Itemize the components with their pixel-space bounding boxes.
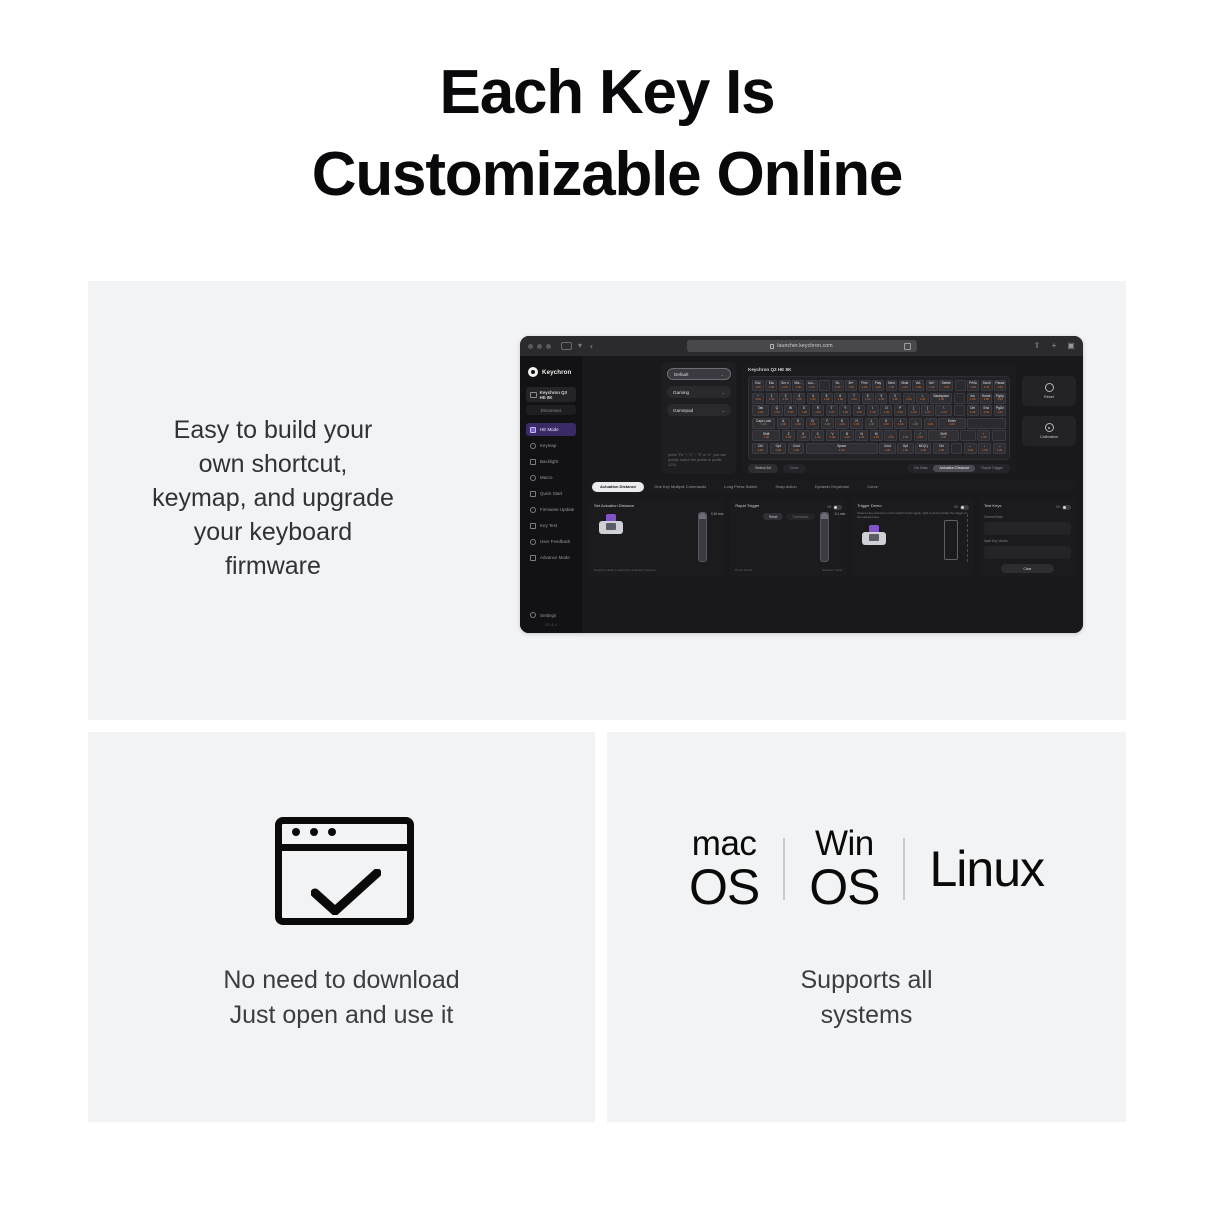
panel-title: Trigger Demo — [857, 503, 881, 508]
key-←[interactable]: ←1.00 — [964, 443, 977, 454]
address-bar[interactable]: launcher.keychron.com — [687, 340, 917, 352]
key-\[interactable]: \1.00 — [935, 405, 952, 416]
tab-long-press-switch[interactable]: Long Press Switch — [716, 482, 765, 492]
key-actuation-value: 1.00 — [782, 386, 787, 389]
sidebar-footer: Settings V1.4.4 — [520, 612, 582, 627]
os-logo-name: Linux — [929, 844, 1044, 894]
switch-slot-shape — [606, 523, 616, 530]
key-Prev[interactable]: Prev1.00 — [859, 380, 871, 391]
app-main: Default⌄Gaming⌄Gamepad⌄ press "Fn" + "1"… — [582, 356, 1083, 633]
tabs-overview-icon[interactable]: ▣ — [1067, 342, 1075, 350]
key-Mic...[interactable]: Mic...1.00 — [792, 380, 804, 391]
caption-line-2: systems — [607, 998, 1126, 1033]
sidebar-item-label: Macro — [540, 475, 552, 480]
key-Caps Lock[interactable]: Caps Lock1.00 — [752, 418, 775, 429]
settings-panels: Set Actuation Distance 0.10 mm Drag the … — [589, 498, 1076, 576]
key-Opt[interactable]: Opt1.00 — [770, 443, 786, 454]
key-Esc[interactable]: Esc1.00 — [765, 380, 777, 391]
select-all-button[interactable]: Select All — [748, 464, 778, 473]
panel-header: Trigger Demo Off — [857, 503, 969, 511]
key-actuation-value: 1.00 — [970, 386, 975, 389]
tab-curve[interactable]: Curve — [859, 482, 886, 492]
key-Enter[interactable]: Enter1.00 — [938, 418, 966, 429]
keyboard-spacer — [955, 380, 966, 391]
rapid-pill-reset[interactable]: Reset — [763, 513, 783, 520]
clear-button[interactable]: Clear — [783, 464, 806, 473]
sidebar-nav: HE ModeKeymapBacklightMacroQuick StartFi… — [520, 423, 582, 564]
key-N[interactable]: N1.00 — [855, 430, 868, 441]
gear-icon — [530, 612, 536, 618]
supported-os-logos: macOSWinOSLinux — [607, 826, 1126, 912]
caption-line-1: No need to download — [88, 963, 595, 998]
seg-no-data[interactable]: No Data — [908, 465, 933, 472]
key-actuation-value: 1.00 — [898, 423, 903, 426]
profile-gamepad[interactable]: Gamepad⌄ — [667, 404, 731, 416]
os-logo-name: OS — [809, 862, 879, 912]
key-actuation-value: 1.00 — [997, 398, 1002, 401]
key-~[interactable]: ~1.00 — [752, 393, 764, 404]
key-↑[interactable]: ↑1.00 — [977, 430, 990, 441]
key-B[interactable]: B1.00 — [840, 430, 853, 441]
actuation-value: 0.10 mm — [711, 512, 723, 516]
key-actuation-value: 1.00 — [810, 423, 815, 426]
profile-default[interactable]: Default⌄ — [667, 368, 731, 380]
macro-icon — [530, 475, 536, 481]
copy-line-4: your keyboard — [108, 515, 438, 549]
key-actuation-value: 1.00 — [927, 423, 932, 426]
keyboard-row: Tab1.00Q1.00W1.00E1.00R1.00T1.00Y1.00U1.… — [752, 405, 1006, 416]
keyboard-view-toggle[interactable]: No DataActuation DistanceRapid Trigger — [907, 464, 1010, 473]
profile-label: Gaming — [673, 390, 689, 395]
sidebar-item-label: Firmware Update — [540, 507, 574, 512]
key-PgUp[interactable]: PgUp1.00 — [994, 393, 1006, 404]
key-Loc...[interactable]: Loc...1.00 — [806, 380, 818, 391]
os-logo-winos: WinOS — [809, 826, 879, 912]
chevron-down-icon[interactable]: ⌄ — [721, 372, 724, 377]
key-Scr n[interactable]: Scr n1.00 — [779, 380, 791, 391]
profile-label: Default — [674, 372, 689, 377]
lock-icon — [770, 344, 774, 349]
key-F[interactable]: F1.00 — [821, 418, 834, 429]
key-actuation-value: 1.00 — [769, 386, 774, 389]
panel-set-actuation-distance: Set Actuation Distance 0.10 mm Drag the … — [589, 498, 725, 576]
key-Space[interactable]: Space1.00 — [806, 443, 878, 454]
input-key-values-field[interactable] — [984, 546, 1071, 559]
panel-header: Rapid Trigger Off — [735, 503, 842, 511]
key-I[interactable]: I1.00 — [867, 405, 879, 416]
key-Vol+[interactable]: Vol+1.00 — [926, 380, 938, 391]
upper-row: Default⌄Gaming⌄Gamepad⌄ press "Fn" + "1"… — [589, 362, 1076, 474]
key-0[interactable]: 01.00 — [889, 393, 901, 404]
chevron-down-icon[interactable]: ▾ — [578, 342, 582, 350]
key-actuation-value: 1.00 — [815, 411, 820, 414]
toggle-label: Off — [1056, 505, 1060, 509]
keychron-launcher-app: Keychron Keychron Q3 HE 8K Disconnect HE… — [520, 356, 1083, 633]
keyboard-icon — [530, 392, 537, 398]
key-Pause[interactable]: Pause1.00 — [994, 380, 1006, 391]
copy-line-3: keymap, and upgrade — [108, 481, 438, 515]
key-T[interactable]: T1.00 — [826, 405, 838, 416]
sidebar-item-backlight[interactable]: Backlight — [526, 455, 576, 468]
chevron-down-icon[interactable]: ⌄ — [722, 390, 725, 395]
key-1[interactable]: 11.00 — [766, 393, 778, 404]
key-Vol-[interactable]: Vol-1.00 — [912, 380, 924, 391]
key-[[interactable]: [1.00 — [908, 405, 920, 416]
key-U[interactable]: U1.00 — [853, 405, 865, 416]
sidebar-item-quick-start[interactable]: Quick Start — [526, 487, 576, 500]
profile-gaming[interactable]: Gaming⌄ — [667, 386, 731, 398]
reset-icon — [1045, 383, 1054, 392]
toggle-label: Off — [827, 505, 831, 509]
tab-dynamic-keystroke[interactable]: Dynamic Keystroke — [807, 482, 857, 492]
keyboard-spacer — [960, 430, 975, 441]
user-feedback-icon — [530, 539, 536, 545]
key-actuation-value: 1.00 — [775, 449, 780, 452]
panel-footer: Drag the slider to adjust the actuation … — [594, 568, 720, 572]
chevron-down-icon[interactable]: ⌄ — [722, 408, 725, 413]
key-actuation-value: 1.00 — [970, 411, 975, 414]
key-Scroll[interactable]: Scroll1.00 — [981, 380, 993, 391]
key-O[interactable]: O1.00 — [880, 405, 892, 416]
key-Br+[interactable]: Br+1.00 — [845, 380, 857, 391]
reset-button[interactable]: Reset — [1022, 376, 1076, 406]
toggle-switch-icon[interactable] — [960, 505, 969, 510]
key-actuation-value: 1.00 — [755, 398, 760, 401]
sidebar-item-firmware-update[interactable]: Firmware Update — [526, 503, 576, 516]
key-End[interactable]: End1.00 — [980, 405, 992, 416]
key-Esc[interactable]: Esc1.00 — [752, 380, 764, 391]
key-actuation-value: 1.00 — [892, 398, 897, 401]
profile-hint: press "Fn" + "1" ~ "3" or "4", you can q… — [668, 453, 730, 468]
key-actuation-value: 1.00 — [875, 386, 880, 389]
rapid-pill-continuous[interactable]: Continuous — [786, 513, 814, 520]
calibration-button[interactable]: Calibration — [1022, 416, 1076, 446]
key-,[interactable]: ,1.00 — [884, 430, 897, 441]
key-actuation-value: 1.00 — [997, 411, 1002, 414]
copy-line-2: own shortcut, — [108, 447, 438, 481]
key-actuation-value: 1.00 — [848, 386, 853, 389]
current-keys-field[interactable] — [984, 522, 1071, 535]
tab-snap-action[interactable]: Snap Action — [767, 482, 804, 492]
key-R[interactable]: R1.00 — [812, 405, 824, 416]
key-V[interactable]: V1.00 — [826, 430, 839, 441]
key-S[interactable]: S1.00 — [791, 418, 804, 429]
key-actuation-value: 1.00 — [800, 436, 805, 439]
tab-actuation-distance[interactable]: Actuation Distance — [592, 482, 644, 492]
button-label: Calibration — [1040, 435, 1058, 439]
key-actuation-value: 1.00 — [809, 386, 814, 389]
key-D[interactable]: D1.00 — [806, 418, 819, 429]
settings-label: Settings — [540, 613, 556, 618]
divider — [903, 838, 905, 900]
actuation-hint: Drag the slider to adjust the actuation … — [594, 568, 656, 572]
minimize-icon[interactable] — [537, 344, 542, 349]
key-actuation-value: 1.00 — [870, 411, 875, 414]
keyboard-layout[interactable]: Esc1.00Esc1.00Scr n1.00Mic...1.00Loc...1… — [748, 376, 1010, 460]
key-Home[interactable]: Home1.00 — [980, 393, 992, 404]
key-4[interactable]: 41.00 — [807, 393, 819, 404]
key-actuation-value: 1.00 — [793, 449, 798, 452]
os-logo-name: OS — [689, 862, 759, 912]
copy-line-5: firmware — [108, 549, 438, 583]
toggle-switch-icon[interactable] — [1062, 505, 1071, 510]
key-Shift[interactable]: Shift1.00 — [928, 430, 959, 441]
sidebar-item-keymap[interactable]: Keymap — [526, 439, 576, 452]
sidebar-item-key-test[interactable]: Key Test — [526, 519, 576, 532]
keyboard-spacer — [954, 393, 965, 404]
key-2[interactable]: 21.00 — [779, 393, 791, 404]
sidebar-item-label: HE Mode — [540, 427, 559, 432]
key-K[interactable]: K1.00 — [879, 418, 892, 429]
key-Shift[interactable]: Shift1.00 — [752, 430, 780, 441]
app-version: V1.4.4 — [520, 622, 582, 627]
key-Del[interactable]: Del1.00 — [967, 405, 979, 416]
key-Cmd[interactable]: Cmd1.00 — [788, 443, 804, 454]
trigger-gauge — [944, 520, 958, 560]
maximize-icon[interactable] — [546, 344, 551, 349]
key-6[interactable]: 61.00 — [834, 393, 846, 404]
gauge-dashed-line — [967, 514, 968, 562]
key-actuation-value: 1.00 — [829, 411, 834, 414]
release-travel-label: Release Travel — [822, 568, 842, 572]
browser-actions: ⇪ + ▣ — [1033, 342, 1075, 350]
sidebar-toggle-icon[interactable] — [561, 342, 572, 350]
key-actuation-value: 1.00 — [755, 386, 760, 389]
key-actuation-value: 1.00 — [830, 436, 835, 439]
device-selector[interactable]: Keychron Q3 HE 8K — [526, 387, 576, 402]
key-X[interactable]: X1.00 — [797, 430, 810, 441]
key-actuation-value: 1.00 — [939, 398, 944, 401]
panel-test-keys: Test Keys Off Current Keys Input Key Val… — [979, 498, 1076, 576]
key-.[interactable]: .1.00 — [899, 430, 912, 441]
key-Next[interactable]: Next1.00 — [886, 380, 898, 391]
key-Opt[interactable]: Opt1.00 — [897, 443, 913, 454]
key-actuation-value: 1.00 — [783, 398, 788, 401]
sidebar-item-label: Advance Mode — [540, 555, 570, 560]
key-P[interactable]: P1.00 — [894, 405, 906, 416]
key-H[interactable]: H1.00 — [850, 418, 863, 429]
key-Cmd[interactable]: Cmd1.00 — [879, 443, 895, 454]
key-actuation-value: 1.00 — [984, 398, 989, 401]
brand: Keychron — [520, 364, 582, 380]
browser-toolbar: ▾ ‹ launcher.keychron.com ⇪ + ▣ — [520, 336, 1083, 356]
key-/[interactable]: /1.00 — [914, 430, 927, 441]
key-actuation-value: 1.00 — [764, 436, 769, 439]
key-][interactable]: ]1.00 — [921, 405, 933, 416]
key-actuation-value: 1.00 — [925, 411, 930, 414]
key-G[interactable]: G1.00 — [835, 418, 848, 429]
key-;[interactable]: ;1.00 — [909, 418, 922, 429]
copy-line-1: Easy to build your — [108, 413, 438, 447]
key-5[interactable]: 51.00 — [821, 393, 833, 404]
key-actuation-value: 1.00 — [903, 449, 908, 452]
toggle-label: Off — [954, 505, 958, 509]
key-actuation-value: 1.00 — [897, 411, 902, 414]
key-actuation-value: 1.00 — [758, 411, 763, 414]
key-test-icon — [530, 523, 536, 529]
key-actuation-value: 1.00 — [997, 449, 1002, 452]
rapid-trigger-toggle[interactable]: Off — [827, 505, 842, 510]
panel-footer: Press Travel Release Travel — [735, 568, 842, 572]
disconnect-button[interactable]: Disconnect — [526, 405, 576, 415]
sidebar-item-he-mode[interactable]: HE Mode — [526, 423, 576, 436]
key-L[interactable]: L1.00 — [894, 418, 907, 429]
press-travel-label: Press Travel — [735, 568, 752, 572]
key-→[interactable]: →1.00 — [993, 443, 1006, 454]
disconnect-label: Disconnect — [541, 408, 562, 413]
key-Br-[interactable]: Br-1.00 — [832, 380, 844, 391]
key-actuation-value: 1.00 — [844, 436, 849, 439]
key-Q[interactable]: Q1.00 — [771, 405, 783, 416]
key-actuation-value: 1.00 — [982, 449, 987, 452]
key-actuation-value: 1.00 — [921, 449, 926, 452]
page-root: Each Key Is Customizable Online Easy to … — [0, 0, 1214, 1214]
key-Play[interactable]: Play1.00 — [872, 380, 884, 391]
os-logo-linux: Linux — [929, 844, 1044, 894]
key-actuation-value: 1.00 — [984, 411, 989, 414]
key-actuation-value: 1.00 — [815, 436, 820, 439]
key-=[interactable]: =1.00 — [916, 393, 928, 404]
key-actuation-value: 1.00 — [769, 398, 774, 401]
key-actuation-value: 1.00 — [949, 423, 954, 426]
key-M[interactable]: M1.00 — [870, 430, 883, 441]
key-actuation-value: 1.00 — [825, 423, 830, 426]
key-actuation-value: 1.00 — [786, 436, 791, 439]
key-actuation-value: 1.00 — [788, 411, 793, 414]
address-bar-text: launcher.keychron.com — [777, 343, 832, 349]
key-Ctrl[interactable]: Ctrl1.00 — [752, 443, 768, 454]
key-Backspace[interactable]: Backspace1.00 — [930, 393, 952, 404]
key-actuation-value: 1.00 — [920, 398, 925, 401]
key-9[interactable]: 91.00 — [875, 393, 887, 404]
key-actuation-value: 1.00 — [810, 398, 815, 401]
seg-actuation-distance[interactable]: Actuation Distance — [933, 465, 975, 472]
sidebar-item-settings[interactable]: Settings — [520, 612, 582, 618]
key-actuation-value: 1.00 — [761, 423, 766, 426]
trigger-demo-toggle[interactable]: Off — [954, 505, 969, 510]
key-W[interactable]: W1.00 — [784, 405, 796, 416]
tab-one-key-multiple-commands[interactable]: One Key Multiple Commands — [646, 482, 714, 492]
key-PgDn[interactable]: PgDn1.00 — [994, 405, 1006, 416]
key-Ctrl[interactable]: Ctrl1.00 — [933, 443, 949, 454]
keyboard-footer: Select All Clear No DataActuation Distan… — [748, 464, 1010, 473]
key-↓[interactable]: ↓1.00 — [978, 443, 991, 454]
reload-icon[interactable] — [904, 343, 911, 350]
keyboard-spacer — [992, 430, 1006, 441]
actuation-slider[interactable] — [698, 512, 707, 562]
feature-card-bottom-left — [88, 732, 595, 1122]
key-actuation-value: 1.00 — [835, 386, 840, 389]
keychron-logo-icon — [528, 367, 538, 377]
key-actuation-value: 1.00 — [851, 398, 856, 401]
key--[interactable]: -1.00 — [903, 393, 915, 404]
key-Z[interactable]: Z1.00 — [782, 430, 795, 441]
feature-tab-strip[interactable]: Actuation DistanceOne Key Multiple Comma… — [589, 480, 1076, 493]
rapid-slider[interactable] — [820, 512, 829, 562]
profile-list: Default⌄Gaming⌄Gamepad⌄ press "Fn" + "1"… — [662, 362, 736, 474]
key-actuation-value: 1.00 — [967, 449, 972, 452]
feature-card-bottom-right-caption: Supports all systems — [607, 963, 1126, 1033]
key-actuation-value: 1.00 — [981, 436, 986, 439]
keyboard-title: Keychron Q3 HE 8K — [748, 367, 1010, 372]
device-name: Keychron Q3 HE 8K — [540, 390, 572, 400]
keymap-icon — [530, 443, 536, 449]
firmware-update-icon — [530, 507, 536, 513]
key-Tab[interactable]: Tab1.00 — [752, 405, 769, 416]
key-actuation-value: 1.00 — [801, 411, 806, 414]
input-key-values-label: Input Key Values — [984, 539, 1071, 543]
test-keys-toggle[interactable]: Off — [1056, 505, 1071, 510]
key-actuation-value: 1.00 — [889, 386, 894, 389]
app-sidebar: Keychron Keychron Q3 HE 8K Disconnect HE… — [520, 356, 582, 633]
key-actuation-value: 1.00 — [929, 386, 934, 389]
new-tab-icon[interactable]: + — [1050, 342, 1058, 350]
trigger-demo-note: Select a key and turn on the switch butt… — [857, 511, 969, 519]
button-label: Reset — [1044, 395, 1054, 399]
toggle-switch-icon[interactable] — [833, 505, 842, 510]
current-keys-label: Current Keys — [984, 515, 1071, 519]
keyboard-row: Esc1.00Esc1.00Scr n1.00Mic...1.00Loc...1… — [752, 380, 1006, 391]
key-actuation-value: 1.00 — [774, 411, 779, 414]
sidebar-item-macro[interactable]: Macro — [526, 471, 576, 484]
clear-button[interactable]: Clear — [1001, 564, 1055, 573]
os-logo-prefix: mac — [692, 826, 757, 861]
key-PrtSc[interactable]: PrtSc1.00 — [967, 380, 979, 391]
switch-illustration — [598, 514, 624, 536]
panel-title: Rapid Trigger — [735, 503, 759, 508]
os-logo-prefix: Win — [815, 826, 874, 861]
sidebar-item-advance-mode[interactable]: Advance Mode — [526, 551, 576, 564]
key-Mute[interactable]: Mute1.00 — [899, 380, 911, 391]
key-J[interactable]: J1.00 — [865, 418, 878, 429]
sidebar-item-label: Backlight — [540, 459, 558, 464]
feature-card-top-copy: Easy to build your own shortcut, keymap,… — [108, 413, 438, 583]
key-Ins[interactable]: Ins1.00 — [967, 393, 979, 404]
key-Y[interactable]: Y1.00 — [839, 405, 851, 416]
key-E[interactable]: E1.00 — [798, 405, 810, 416]
window-traffic-lights[interactable] — [528, 344, 551, 349]
key-actuation-value: 1.00 — [796, 398, 801, 401]
os-logo-macos: macOS — [689, 826, 759, 912]
key-actuation-value: 1.00 — [869, 423, 874, 426]
share-icon[interactable]: ⇪ — [1033, 342, 1041, 350]
close-icon[interactable] — [528, 344, 533, 349]
key-actuation-value: 1.00 — [854, 423, 859, 426]
key-C[interactable]: C1.00 — [811, 430, 824, 441]
page-title: Each Key Is Customizable Online — [0, 52, 1214, 216]
key-8[interactable]: 81.00 — [862, 393, 874, 404]
key-Delete[interactable]: Delete1.00 — [939, 380, 953, 391]
key-actuation-value: 1.00 — [941, 411, 946, 414]
key-actuation-value: 1.00 — [917, 436, 922, 439]
back-arrow-icon[interactable]: ‹ — [590, 342, 593, 351]
key-actuation-value: 1.00 — [838, 398, 843, 401]
seg-rapid-trigger[interactable]: Rapid Trigger — [975, 465, 1009, 472]
page-title-line-1: Each Key Is — [0, 52, 1214, 134]
key-7[interactable]: 71.00 — [848, 393, 860, 404]
key-3[interactable]: 31.00 — [793, 393, 805, 404]
key-'[interactable]: '1.00 — [924, 418, 937, 429]
key-actuation-value: 1.00 — [939, 449, 944, 452]
sidebar-item-user-feedback[interactable]: User Feedback — [526, 535, 576, 548]
keyboard-row: Caps Lock1.00A1.00S1.00D1.00F1.00G1.00H1… — [752, 418, 1006, 429]
key-actuation-value: 1.00 — [883, 423, 888, 426]
key-actuation-value: 1.00 — [865, 398, 870, 401]
key-MO(1)[interactable]: MO(1)1.00 — [915, 443, 931, 454]
key-A[interactable]: A1.00 — [777, 418, 790, 429]
panel-title: Set Actuation Distance — [594, 503, 720, 508]
brand-label: Keychron — [542, 369, 571, 376]
